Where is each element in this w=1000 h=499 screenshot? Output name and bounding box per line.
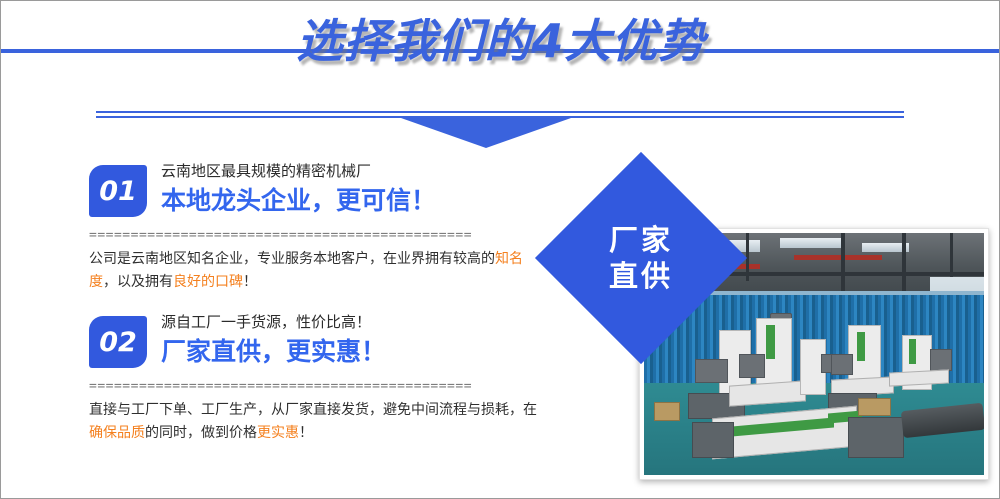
feature-header: 01 云南地区最具规模的精密机械厂 本地龙头企业，更可信！ — [89, 161, 559, 218]
advantages-banner: 选择我们的4大优势 01 云南地区最具规模的精密机械厂 本地龙头企业，更可信！ … — [0, 0, 1000, 499]
feature-item-02: 02 源自工厂一手货源，性价比高！ 厂家直供，更实惠！ ============… — [89, 312, 559, 445]
feature-headline: 本地龙头企业，更可信！ — [161, 184, 436, 218]
feature-paragraph: 直接与工厂下单、工厂生产，从厂家直接发货，避免中间流程与损耗，在确保品质的同时，… — [89, 399, 541, 445]
feature-headline: 厂家直供，更实惠！ — [161, 335, 386, 369]
plain-text: 的同时，做到价格 — [145, 425, 257, 441]
photo-wooden-crate — [858, 398, 891, 417]
dashed-rule: ========================================… — [89, 228, 544, 244]
photo-foreground-base — [692, 422, 735, 458]
photo-machine-guide — [766, 325, 775, 359]
photo-foreground-base — [848, 417, 904, 458]
plain-text: ，以及拥有 — [103, 274, 173, 290]
features-list: 01 云南地区最具规模的精密机械厂 本地龙头企业，更可信！ ==========… — [89, 161, 559, 491]
feature-subtitle: 源自工厂一手货源，性价比高！ — [161, 312, 386, 333]
feature-text-group: 云南地区最具规模的精密机械厂 本地龙头企业，更可信！ — [161, 161, 436, 218]
feature-item-01: 01 云南地区最具规模的精密机械厂 本地龙头企业，更可信！ ==========… — [89, 161, 559, 294]
photo-section: 厂家 直供 — [621, 223, 996, 491]
photo-wooden-crate — [654, 402, 680, 421]
dashed-rule: ========================================… — [89, 379, 544, 395]
page-title: 选择我们的4大优势 — [1, 9, 1000, 73]
plain-text: 直接与工厂下单、工厂生产，从厂家直接发货，避免中间流程与损耗，在 — [89, 402, 537, 418]
feature-text-group: 源自工厂一手货源，性价比高！ 厂家直供，更实惠！ — [161, 312, 386, 369]
photo-machine-head — [739, 354, 765, 378]
feature-number-badge: 02 — [89, 316, 147, 368]
photo-roof-beam — [841, 233, 845, 296]
plain-text: ！ — [243, 274, 257, 290]
chevron-down-icon — [401, 118, 571, 148]
photo-machine-head — [930, 349, 952, 370]
highlighted-text: 确保品质 — [89, 425, 145, 441]
photo-machine-guide — [909, 339, 916, 363]
highlighted-text: 良好的口碑 — [173, 274, 243, 290]
photo-machine-head — [831, 354, 853, 375]
plain-text: 公司是云南地区知名企业，专业服务本地客户，在业界拥有较高的 — [89, 251, 495, 267]
spacer — [89, 294, 559, 312]
plain-text: ！ — [299, 425, 313, 441]
feature-paragraph: 公司是云南地区知名企业，专业服务本地客户，在业界拥有较高的知名度，以及拥有良好的… — [89, 248, 541, 294]
photo-machine-bed — [889, 369, 949, 386]
photo-roof-beam — [902, 233, 906, 296]
header: 选择我们的4大优势 — [1, 1, 999, 101]
photo-red-beam — [794, 255, 882, 260]
feature-number-badge: 01 — [89, 165, 147, 217]
feature-subtitle: 云南地区最具规模的精密机械厂 — [161, 161, 436, 182]
highlighted-text: 更实惠 — [257, 425, 299, 441]
photo-machine-guide — [857, 332, 866, 361]
photo-skylight — [780, 238, 841, 248]
photo-machine-head — [695, 359, 728, 383]
section-divider — [96, 111, 904, 149]
divider-line-top — [96, 111, 904, 113]
feature-header: 02 源自工厂一手货源，性价比高！ 厂家直供，更实惠！ — [89, 312, 559, 369]
